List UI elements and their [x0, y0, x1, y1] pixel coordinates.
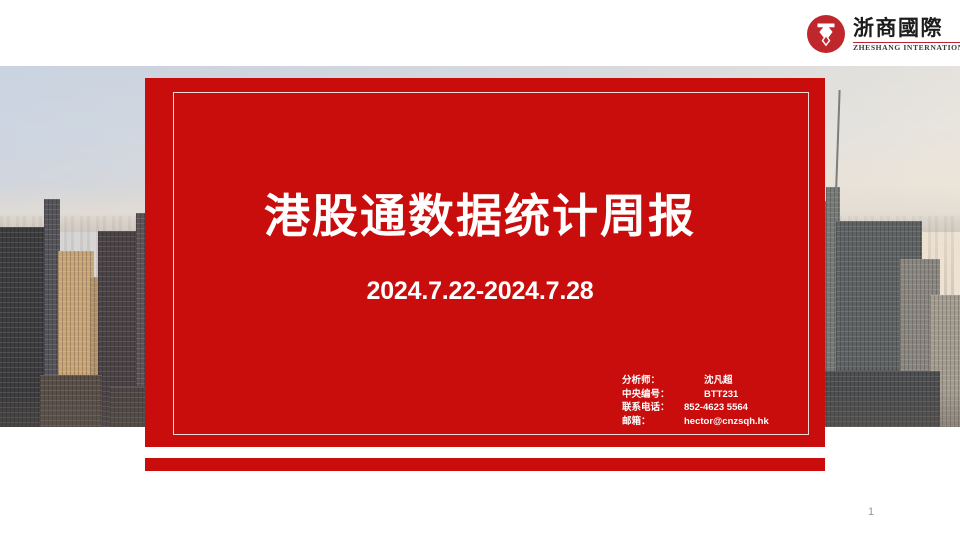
- zheshang-logo-mark-icon: [806, 14, 846, 54]
- analyst-value-email: hector@cnzsqh.hk: [684, 415, 769, 429]
- brand-logo-text: 浙商國際 ZHESHANG INTERNATIONAL: [853, 16, 960, 51]
- bottom-accent-bar: [145, 458, 825, 471]
- brand-logo: 浙商國際 ZHESHANG INTERNATIONAL: [806, 8, 954, 60]
- brand-name-en: ZHESHANG INTERNATIONAL: [853, 44, 960, 52]
- slide-canvas: 浙商國際 ZHESHANG INTERNATIONAL: [0, 0, 960, 540]
- analyst-row-central-number: 中央编号： BTT231: [622, 388, 769, 402]
- analyst-value-name: 沈凡超: [684, 374, 733, 388]
- page-number: 1: [868, 506, 874, 518]
- brand-name-cn: 浙商國際: [853, 17, 960, 39]
- analyst-label-phone: 联系电话：: [622, 401, 684, 415]
- analyst-value-central-number: BTT231: [684, 388, 738, 402]
- analyst-row-email: 邮箱： hector@cnzsqh.hk: [622, 415, 769, 429]
- analyst-info-block: 分析师： 沈凡超 中央编号： BTT231 联系电话： 852-4623 556…: [622, 374, 769, 428]
- analyst-value-phone: 852-4623 5564: [684, 401, 748, 415]
- analyst-row-name: 分析师： 沈凡超: [622, 374, 769, 388]
- analyst-label-central-number: 中央编号：: [622, 388, 684, 402]
- page-subtitle-date-range: 2024.7.22-2024.7.28: [0, 277, 960, 306]
- analyst-label-name: 分析师：: [622, 374, 684, 388]
- page-title: 港股通数据统计周报: [0, 189, 960, 243]
- analyst-label-email: 邮箱：: [622, 415, 684, 429]
- analyst-row-phone: 联系电话： 852-4623 5564: [622, 401, 769, 415]
